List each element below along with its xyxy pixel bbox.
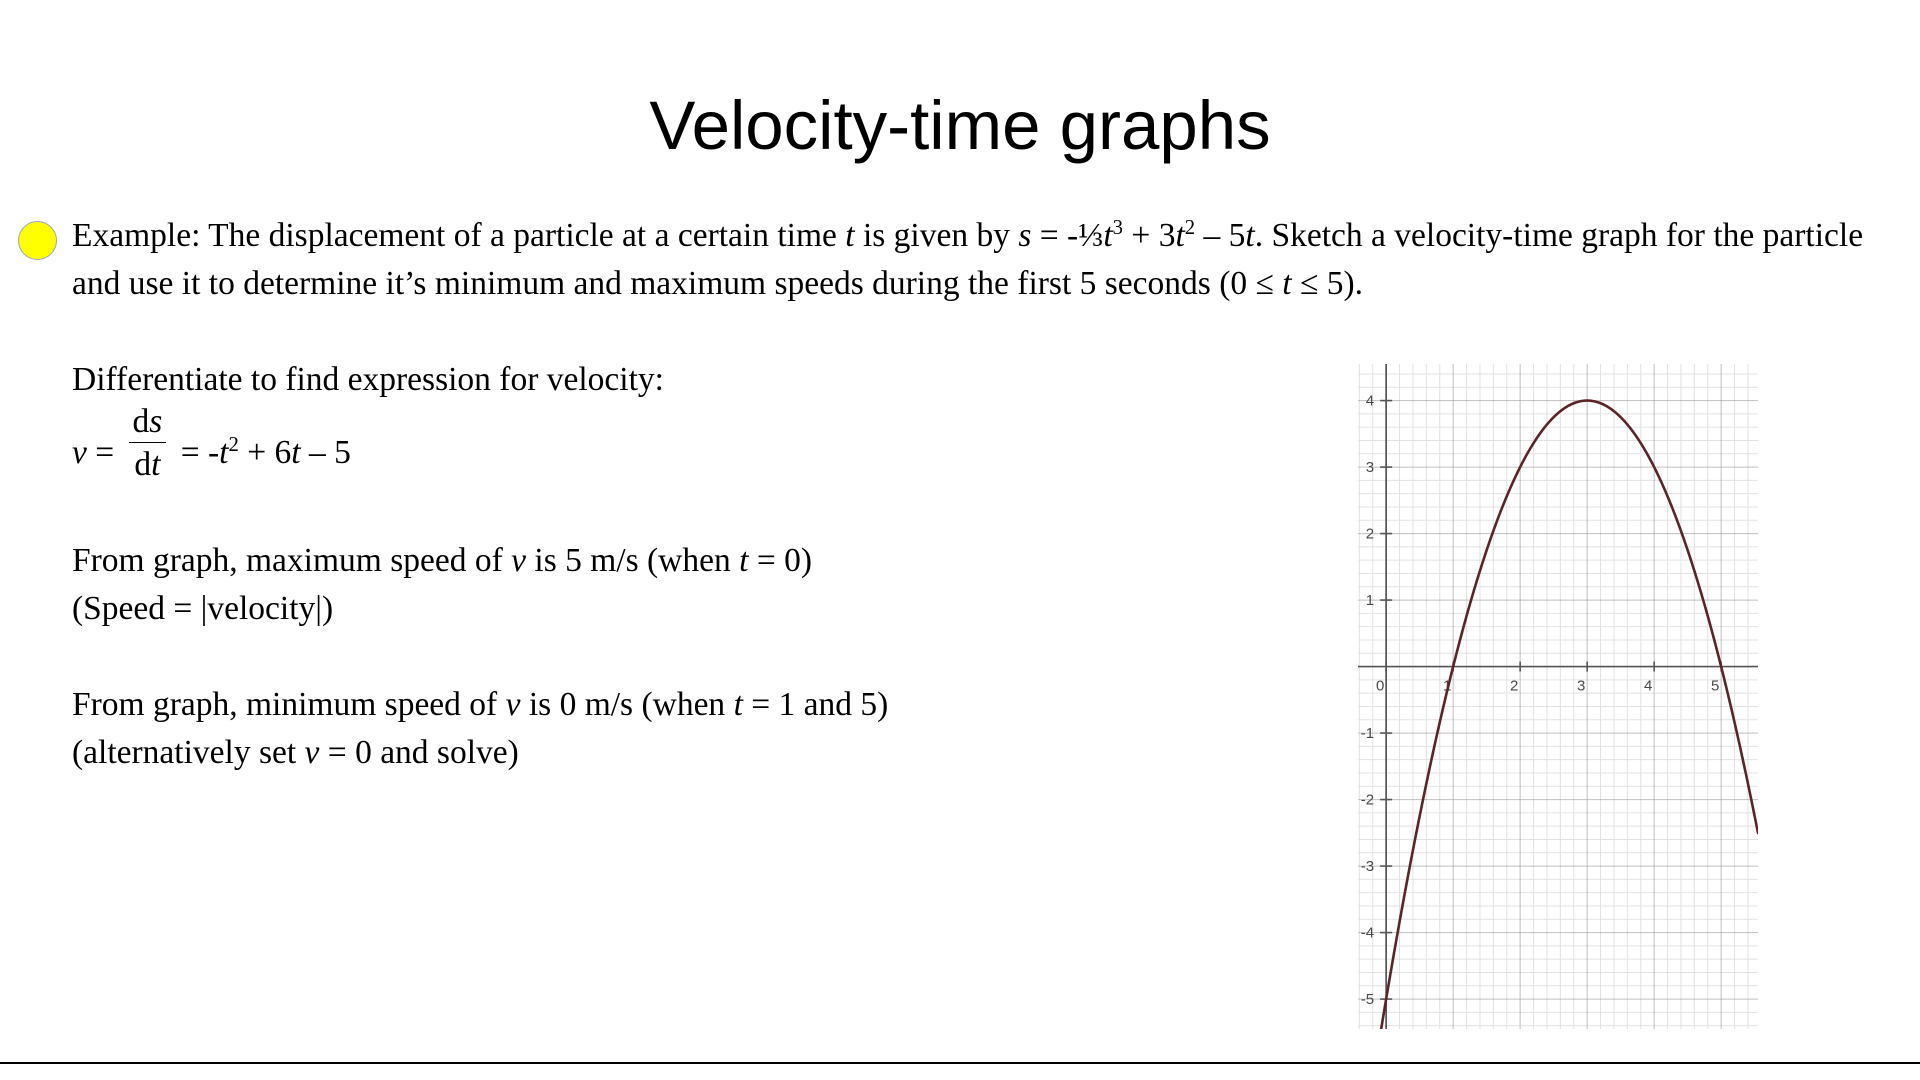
derivative-numerator: ds <box>129 402 167 442</box>
derivative-rest-2: – 5 <box>301 434 351 471</box>
x-tick-label: 4 <box>1644 678 1652 695</box>
min-speed-part2: is 0 m/s (when <box>520 686 733 723</box>
derivative-denominator: dt <box>129 442 167 487</box>
max-speed-part2: is 5 m/s (when <box>526 542 739 579</box>
y-tick-label: 3 <box>1366 459 1374 476</box>
y-tick-label: -4 <box>1361 925 1374 942</box>
bullet-dot-icon <box>18 221 57 260</box>
example-tail2: ≤ 5). <box>1292 265 1363 302</box>
min-note-suffix: = 0 and solve) <box>319 734 518 771</box>
min-speed-v: v <box>506 686 521 723</box>
x-tick-label: 0 <box>1376 678 1384 695</box>
y-tick-label: -3 <box>1361 858 1374 875</box>
min-speed-part1: From graph, minimum speed of <box>72 686 506 723</box>
example-range-t: t <box>1282 265 1291 302</box>
example-t2: t <box>1175 217 1184 254</box>
velocity-time-graph: 0123454321-1-2-3-4-5 <box>1358 364 1758 1029</box>
y-tick-label: 1 <box>1366 592 1374 609</box>
spacer-1 <box>18 308 1908 356</box>
derivative-den-t: t <box>151 446 160 483</box>
derivative-num-d: d <box>133 403 150 440</box>
min-speed-part3: = 1 and 5) <box>743 686 888 723</box>
example-pow2: 2 <box>1185 216 1195 239</box>
example-var-s: s <box>1018 217 1031 254</box>
slide-canvas: Velocity-time graphs Example: The displa… <box>0 0 1920 1080</box>
derivative-rhs: = -t2 + 6t – 5 <box>172 434 350 471</box>
example-t1: t <box>1103 217 1112 254</box>
x-tick-label: 3 <box>1577 678 1585 695</box>
velocity-curve <box>1375 401 1758 1029</box>
x-tick-label: 2 <box>1510 678 1518 695</box>
y-tick-label: 2 <box>1366 526 1374 543</box>
derivative-equals-1: = <box>87 434 123 471</box>
max-speed-part1: From graph, maximum speed of <box>72 542 511 579</box>
example-eq-open: = -⅓ <box>1031 217 1103 254</box>
example-lead: Example: The displacement of a particle … <box>72 217 845 254</box>
example-t3: t <box>1245 217 1254 254</box>
y-tick-label: -1 <box>1361 725 1374 742</box>
page-title: Velocity-time graphs <box>0 86 1920 166</box>
example-pow3: 3 <box>1113 216 1123 239</box>
x-tick-label: 5 <box>1711 678 1719 695</box>
derivative-t-lin: t <box>291 434 300 471</box>
max-speed-v: v <box>511 542 526 579</box>
example-plus: + 3 <box>1123 217 1175 254</box>
min-note-v: v <box>305 734 320 771</box>
derivative-fraction: dsdt <box>129 402 167 487</box>
min-speed-t: t <box>734 686 743 723</box>
derivative-rest-1: + 6 <box>239 434 291 471</box>
derivative-den-d: d <box>134 446 151 483</box>
y-tick-label: -5 <box>1361 991 1374 1008</box>
y-tick-label: -2 <box>1361 792 1374 809</box>
example-minus: – 5 <box>1195 217 1245 254</box>
example-mid: is given by <box>855 217 1019 254</box>
bottom-divider <box>0 1062 1920 1064</box>
derivative-v: v <box>72 434 87 471</box>
derivative-equals-2: = - <box>172 434 219 471</box>
derivative-num-s: s <box>149 403 162 440</box>
derivative-t-sq-pow: 2 <box>228 433 238 456</box>
y-tick-label: 4 <box>1366 393 1374 410</box>
example-paragraph: Example: The displacement of a particle … <box>18 212 1912 308</box>
min-note-prefix: (alternatively set <box>72 734 305 771</box>
graph-svg: 0123454321-1-2-3-4-5 <box>1358 364 1758 1029</box>
max-speed-part3: = 0) <box>748 542 812 579</box>
example-var-t: t <box>845 217 854 254</box>
